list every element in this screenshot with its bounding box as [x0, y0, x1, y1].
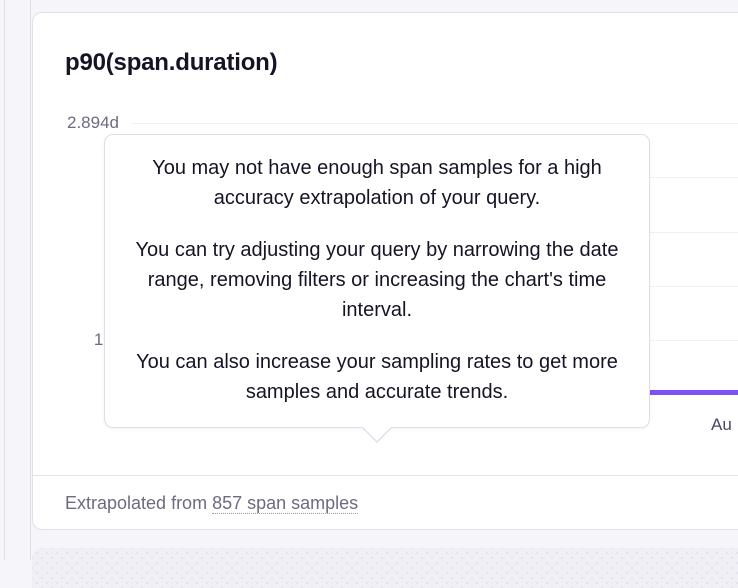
loading-skeleton-panel	[32, 548, 738, 588]
page-gutter-line-outer	[4, 0, 5, 560]
tooltip-paragraph-1: You may not have enough span samples for…	[131, 153, 623, 213]
screen-root: p90(span.duration) 2.894d 2 1 1 13.8 Au …	[0, 0, 738, 560]
span-samples-link[interactable]: 857 span samples	[212, 493, 358, 514]
page-gutter-line-inner	[30, 0, 31, 560]
footer-prefix-text: Extrapolated from	[65, 493, 212, 513]
chart-gridline	[131, 123, 738, 124]
widget-footer: Extrapolated from 857 span samples	[65, 493, 358, 514]
sampling-warning-tooltip: You may not have enough span samples for…	[104, 134, 650, 428]
tooltip-paragraph-2: You can try adjusting your query by narr…	[131, 235, 623, 325]
card-divider	[33, 475, 738, 476]
tooltip-caret-fill-icon	[362, 426, 392, 441]
y-axis-tick-label: 2.894d	[67, 113, 119, 133]
x-axis-tick-label: Au	[711, 415, 732, 435]
tooltip-paragraph-3: You can also increase your sampling rate…	[131, 347, 623, 407]
chart-series-line[interactable]	[641, 390, 738, 395]
widget-title: p90(span.duration)	[65, 49, 277, 77]
